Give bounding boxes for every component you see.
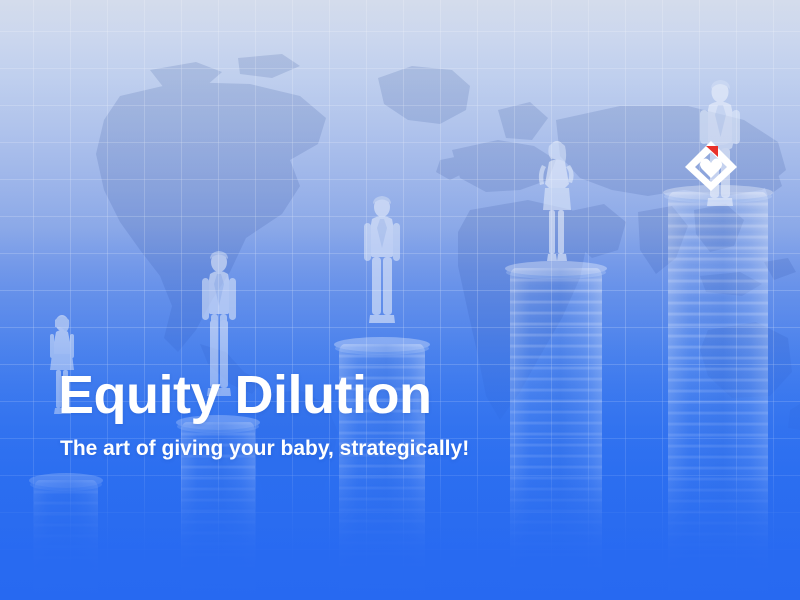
page-title: Equity Dilution	[58, 366, 698, 424]
title-block: Equity Dilution The art of giving your b…	[58, 366, 698, 462]
presentation-slide: Equity Dilution The art of giving your b…	[0, 0, 800, 600]
world-map-background	[0, 0, 800, 600]
diamond-heart-logo-icon	[684, 140, 738, 192]
page-subtitle: The art of giving your baby, strategical…	[60, 436, 698, 462]
